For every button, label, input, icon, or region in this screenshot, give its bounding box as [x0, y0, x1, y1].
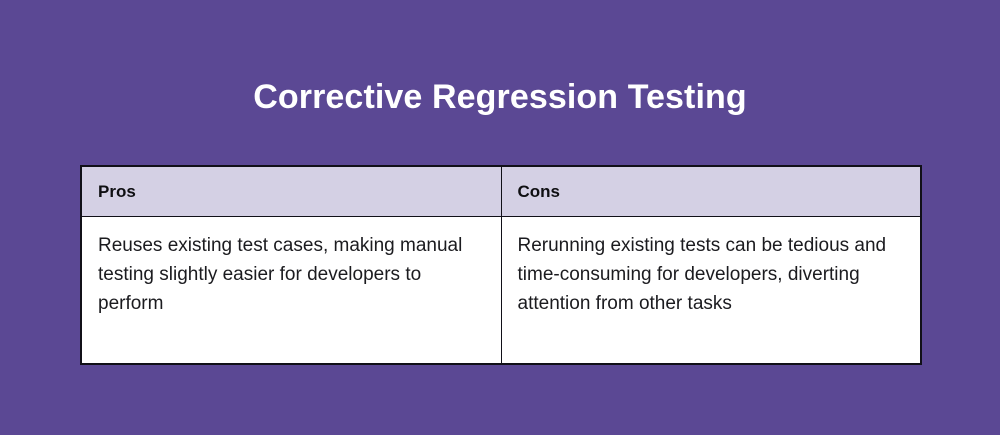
column-header-cons: Cons [501, 166, 921, 217]
table-header: Pros Cons [81, 166, 921, 217]
table-row: Reuses existing test cases, making manua… [81, 217, 921, 365]
cell-cons-text: Rerunning existing tests can be tedious … [518, 231, 905, 318]
column-header-pros: Pros [81, 166, 501, 217]
table-header-row: Pros Cons [81, 166, 921, 217]
cell-pros-text: Reuses existing test cases, making manua… [98, 231, 485, 318]
pros-cons-table: Pros Cons Reuses existing test cases, ma… [80, 165, 922, 365]
cell-pros: Reuses existing test cases, making manua… [81, 217, 501, 365]
cell-cons: Rerunning existing tests can be tedious … [501, 217, 921, 365]
page-title: Corrective Regression Testing [0, 74, 1000, 120]
slide-canvas: Corrective Regression Testing Pros Cons … [0, 0, 1000, 435]
table-body: Reuses existing test cases, making manua… [81, 217, 921, 365]
